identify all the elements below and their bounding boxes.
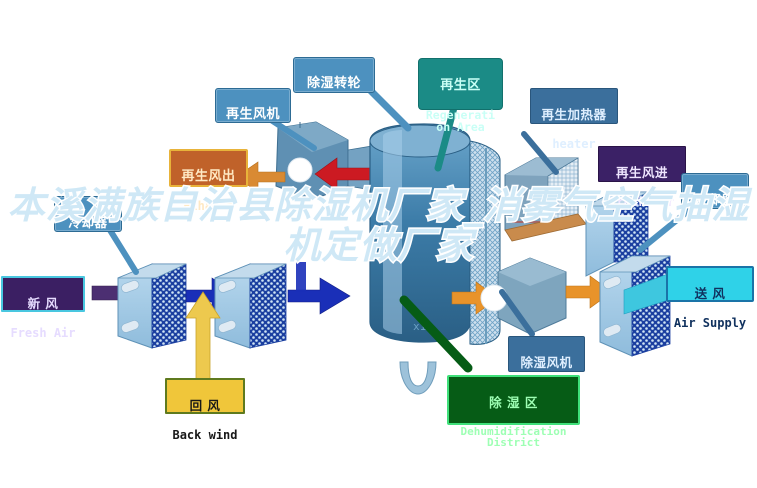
desiccant-rotor-wheel: x1 [370, 124, 500, 344]
condensate-scoop [400, 362, 436, 394]
label-fresh-air-bottom-cn: 新 风 [7, 297, 79, 310]
label-dehum-district-en: Dehumidification District [453, 426, 574, 449]
label-fresh-air-bottom: 新 风 Fresh Air [1, 276, 85, 312]
label-regen-heater: 再生加热器 heater [530, 88, 618, 124]
label-air-supply-en: Air Supply [672, 317, 748, 330]
label-fresh-air-top: 再生风进 Fresh Air [598, 146, 686, 182]
label-regen-area: 再生区 Regenerati on Area [418, 58, 503, 110]
label-desiccant: 除湿转轮 Desiccant [293, 57, 375, 93]
regeneration-heater-block [505, 158, 586, 241]
label-cooler-left-cn: 冷却器 [59, 216, 117, 229]
label-desiccant-en: Desiccant [298, 107, 370, 120]
label-desiccant-cn: 除湿转轮 [298, 77, 370, 91]
label-regen-blower: 再生风机 Blower [215, 88, 291, 123]
process-riser [296, 262, 306, 292]
label-back-wind: 回 风 Back wind [165, 378, 245, 414]
label-regen-area-en: Regenerati on Area [423, 109, 498, 133]
label-dehum-district: 除 湿 区 Dehumidification District [447, 375, 580, 425]
label-fresh-air-top-en: Fresh Air [603, 196, 681, 209]
label-regen-blower-cn: 再生风机 [220, 108, 286, 122]
label-back-wind-cn: 回 风 [171, 399, 239, 412]
label-cooler-left: 冷却器 Cooler [54, 196, 122, 232]
process-cooler-2 [215, 264, 286, 348]
label-dehum-district-cn: 除 湿 区 [453, 396, 574, 409]
label-air-supply-cn: 送 风 [672, 287, 748, 300]
label-back-wind-en: Back wind [171, 429, 239, 442]
label-cooler-left-en: Cooler [59, 246, 117, 259]
process-cooler-1 [118, 264, 186, 348]
label-cooler-right: 冷却器 Cooler [681, 173, 749, 209]
label-exhaust-en: Exhaust [175, 200, 242, 213]
label-fresh-air-bottom-en: Fresh Air [7, 327, 79, 340]
label-fresh-air-top-cn: 再生风进 [603, 166, 681, 179]
label-dehum-blower-cn: 除湿风机 [513, 356, 580, 369]
label-exhaust: 再生风出 Exhaust [169, 149, 248, 187]
diagram-canvas: x1 [0, 0, 757, 488]
label-regen-heater-cn: 再生加热器 [535, 108, 613, 121]
label-cooler-right-en: Cooler [686, 223, 744, 236]
label-dehum-blower: 除湿风机 Blower [508, 336, 585, 372]
label-cooler-right-cn: 冷却器 [686, 193, 744, 206]
label-air-supply: 送 风 Air Supply [666, 266, 754, 302]
label-regen-area-cn: 再生区 [423, 79, 498, 93]
label-exhaust-cn: 再生风出 [175, 170, 242, 184]
